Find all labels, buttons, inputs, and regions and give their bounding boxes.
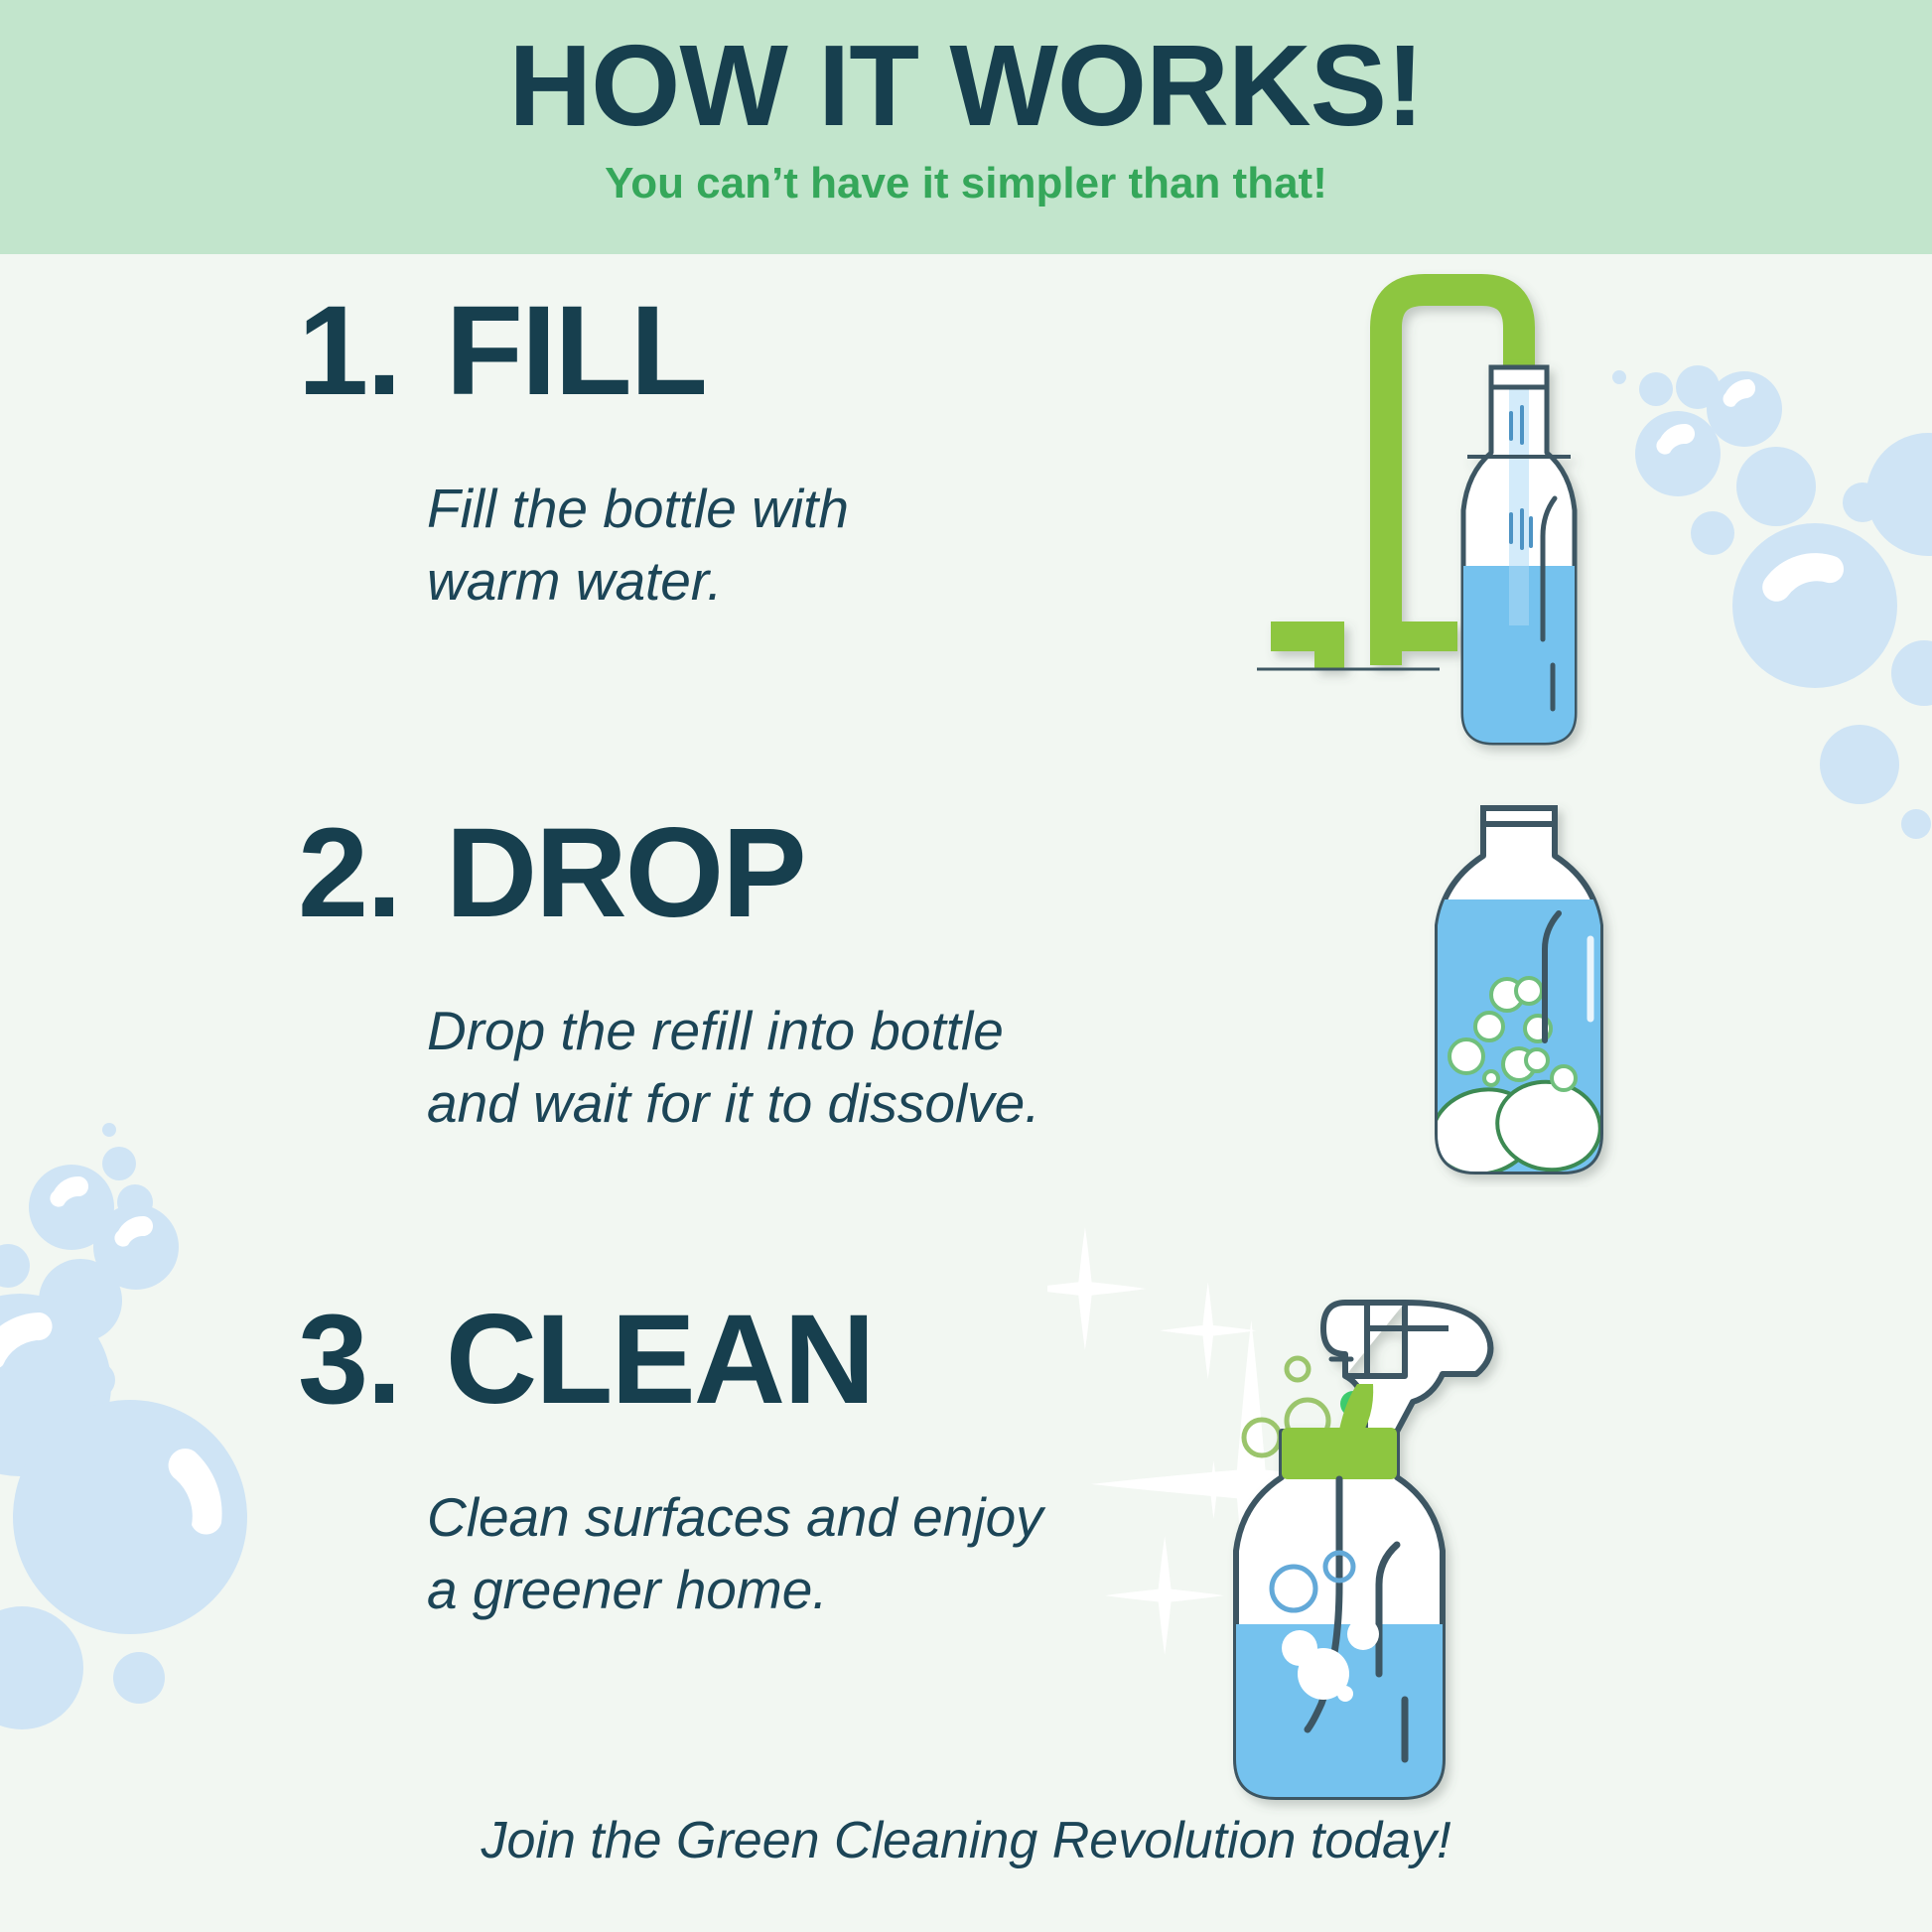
step-1-fill: 1. FILL Fill the bottle with warm water. bbox=[0, 288, 1932, 725]
footer-cta-text: Join the Green Cleaning Revolution today… bbox=[0, 1811, 1932, 1870]
bottle-with-tablets-illustration bbox=[1380, 790, 1658, 1187]
step-2-desc-line-1: Drop the refill into bottle bbox=[427, 1000, 1004, 1061]
step-1-heading: 1. FILL bbox=[298, 288, 1301, 415]
step-2-number: 2. bbox=[298, 810, 400, 937]
step-1-desc-line-1: Fill the bottle with bbox=[427, 478, 849, 539]
step-2-text-block: 2. DROP Drop the refill into bottle and … bbox=[298, 810, 1301, 1140]
header-band: HOW IT WORKS! You can’t have it simpler … bbox=[0, 0, 1932, 254]
footer: Join the Green Cleaning Revolution today… bbox=[0, 1811, 1932, 1870]
steps-container: 1. FILL Fill the bottle with warm water. bbox=[0, 254, 1932, 1932]
step-1-description: Fill the bottle with warm water. bbox=[427, 473, 1211, 618]
refill-bottle-icon bbox=[1423, 808, 1608, 1184]
step-2-heading: 2. DROP bbox=[298, 810, 1301, 937]
step-3-number: 3. bbox=[298, 1297, 400, 1424]
step-1-desc-line-2: warm water. bbox=[427, 545, 1211, 618]
step-2-desc-line-2: and wait for it to dissolve. bbox=[427, 1067, 1211, 1140]
infographic-poster: HOW IT WORKS! You can’t have it simpler … bbox=[0, 0, 1932, 1932]
spray-bottle-illustration bbox=[1047, 1207, 1663, 1823]
step-3-title: CLEAN bbox=[446, 1297, 874, 1424]
step-1-title: FILL bbox=[446, 288, 706, 415]
faucet-bottle-illustration bbox=[1221, 268, 1658, 764]
spray-bottle-icon bbox=[1232, 1303, 1490, 1803]
page-subtitle: You can’t have it simpler than that! bbox=[605, 159, 1327, 208]
glass-bottle-icon bbox=[1459, 367, 1583, 755]
step-1-text-block: 1. FILL Fill the bottle with warm water. bbox=[298, 288, 1301, 618]
step-1-number: 1. bbox=[298, 288, 400, 415]
step-2-drop: 2. DROP Drop the refill into bottle and … bbox=[0, 810, 1932, 1237]
step-3-clean: 3. CLEAN Clean surfaces and enjoy a gree… bbox=[0, 1297, 1932, 1793]
step-2-title: DROP bbox=[446, 810, 805, 937]
page-title: HOW IT WORKS! bbox=[508, 26, 1423, 147]
step-2-description: Drop the refill into bottle and wait for… bbox=[427, 995, 1211, 1140]
step-3-desc-line-1: Clean surfaces and enjoy bbox=[427, 1486, 1043, 1548]
